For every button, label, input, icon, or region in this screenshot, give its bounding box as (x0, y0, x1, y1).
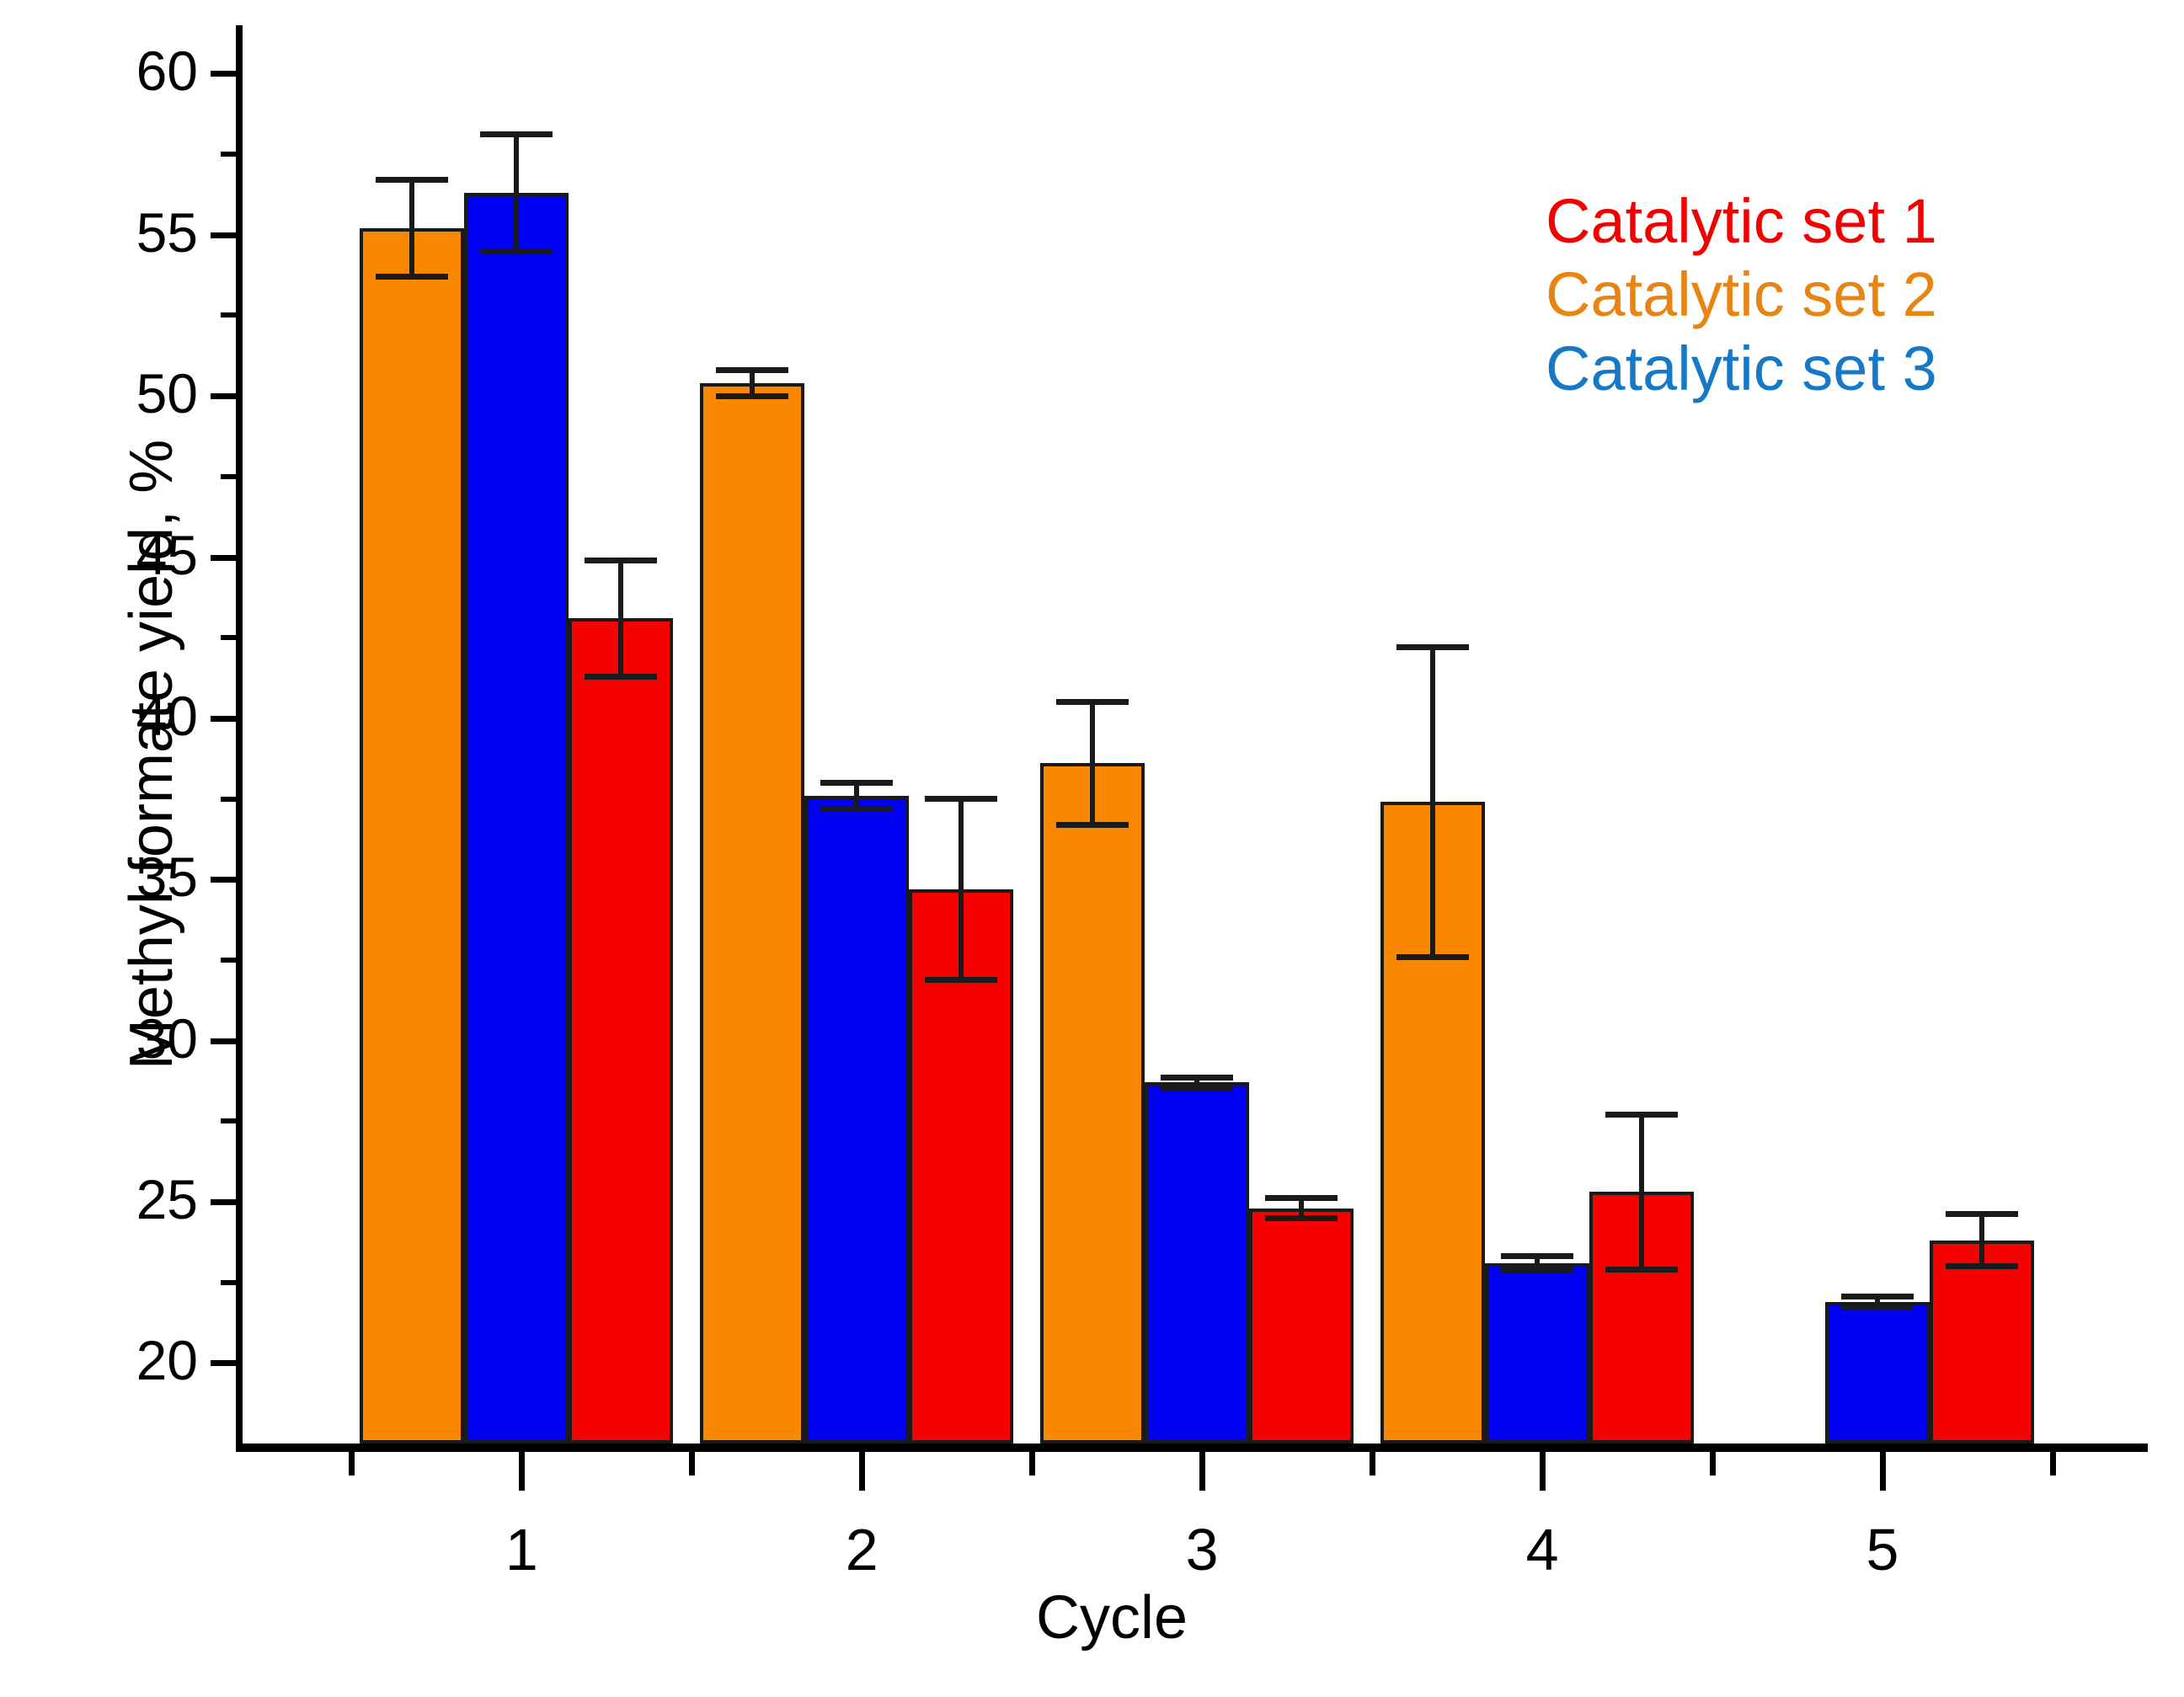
x-tick-major (1199, 1452, 1205, 1491)
y-axis-line (236, 25, 243, 1450)
error-bar-cap-upper (1396, 644, 1469, 650)
error-bar-cap-lower (1161, 1085, 1233, 1091)
legend-entry-catalytic-set-1: Catalytic set 1 (1546, 189, 1937, 253)
error-bar-stem (1430, 644, 1435, 960)
error-bar-cap-upper (480, 131, 553, 137)
y-tick-minor (221, 1280, 236, 1285)
error-bar-stem (514, 131, 519, 253)
legend-entry-catalytic-set-3: Catalytic set 3 (1546, 337, 1937, 400)
y-tick-minor (221, 1118, 236, 1123)
y-tick-label: 60 (29, 43, 198, 99)
y-tick-minor (221, 635, 236, 640)
y-tick-label: 45 (29, 527, 198, 583)
error-bar-cap-upper (1056, 699, 1129, 705)
bar-catalytic-set-2-cycle-3 (1040, 763, 1145, 1444)
y-tick-minor (221, 152, 236, 157)
x-tick-label: 2 (777, 1516, 946, 1583)
bar-catalytic-set-2-cycle-1 (360, 228, 464, 1444)
x-tick-minor (689, 1452, 695, 1476)
x-tick-minor (1029, 1452, 1035, 1476)
error-bar-cap-lower (1946, 1263, 2018, 1269)
x-tick-minor (349, 1452, 355, 1476)
error-bar-stem (409, 177, 414, 280)
y-axis-title: Methyl formate yield, % (117, 291, 186, 1218)
error-bar-stem (618, 558, 623, 680)
error-bar-cap-lower (1841, 1304, 1914, 1310)
y-tick-major (211, 71, 236, 77)
error-bar-cap-upper (585, 558, 657, 563)
y-tick-major (211, 555, 236, 561)
y-tick-major (211, 716, 236, 722)
error-bar-cap-upper (716, 367, 788, 373)
y-tick-major (211, 1199, 236, 1205)
error-bar-cap-upper (1501, 1253, 1573, 1259)
error-bar-cap-upper (925, 796, 997, 802)
y-tick-minor (221, 474, 236, 479)
x-axis-title: Cycle (227, 1583, 1996, 1652)
x-tick-minor (1710, 1452, 1716, 1476)
error-bar-cap-upper (1605, 1112, 1678, 1118)
bar-catalytic-set-3-cycle-4 (1485, 1263, 1589, 1444)
y-tick-minor (221, 312, 236, 318)
error-bar-cap-upper (1161, 1075, 1233, 1081)
y-tick-major (211, 393, 236, 399)
error-bar-cap-upper (1265, 1195, 1338, 1201)
error-bar-stem (959, 796, 964, 983)
x-tick-label: 1 (437, 1516, 606, 1583)
y-tick-label: 50 (29, 366, 198, 421)
bar-catalytic-set-3-cycle-3 (1145, 1082, 1249, 1444)
error-bar-cap-lower (376, 274, 448, 280)
legend-entry-catalytic-set-2: Catalytic set 2 (1546, 263, 1937, 326)
error-bar-cap-lower (1265, 1215, 1338, 1221)
x-tick-major (1540, 1452, 1546, 1491)
y-tick-minor (221, 958, 236, 963)
y-tick-label: 55 (29, 205, 198, 260)
error-bar-cap-lower (716, 393, 788, 399)
bar-catalytic-set-1-cycle-1 (569, 618, 673, 1444)
x-tick-label: 5 (1798, 1516, 1967, 1583)
x-tick-minor (2050, 1452, 2056, 1476)
x-tick-major (859, 1452, 865, 1491)
error-bar-cap-lower (1396, 954, 1469, 960)
error-bar-cap-lower (820, 806, 893, 812)
error-bar-stem (1979, 1211, 1984, 1269)
error-bar-cap-upper (1841, 1294, 1914, 1299)
y-tick-label: 25 (29, 1171, 198, 1227)
x-tick-major (519, 1452, 525, 1491)
bar-catalytic-set-1-cycle-3 (1249, 1209, 1354, 1444)
y-tick-major (211, 877, 236, 883)
error-bar-cap-lower (1501, 1267, 1573, 1273)
y-tick-minor (221, 797, 236, 802)
y-tick-label: 20 (29, 1332, 198, 1388)
bar-catalytic-set-1-cycle-5 (1930, 1241, 2034, 1444)
y-tick-label: 40 (29, 688, 198, 744)
error-bar-cap-lower (480, 248, 553, 254)
y-tick-label: 30 (29, 1011, 198, 1066)
x-tick-label: 4 (1458, 1516, 1626, 1583)
bar-catalytic-set-3-cycle-5 (1825, 1302, 1930, 1444)
legend: Catalytic set 1 Catalytic set 2 Catalyti… (1546, 189, 1937, 410)
error-bar-cap-lower (1056, 822, 1129, 828)
error-bar-stem (1090, 699, 1095, 828)
bar-catalytic-set-2-cycle-2 (700, 383, 804, 1444)
y-tick-major (211, 1038, 236, 1044)
x-tick-minor (1370, 1452, 1375, 1476)
x-tick-label: 3 (1118, 1516, 1286, 1583)
bar-catalytic-set-3-cycle-1 (464, 193, 569, 1444)
chart-figure: Methyl formate yield, % Cycle 2025303540… (0, 0, 2184, 1697)
error-bar-cap-lower (1605, 1267, 1678, 1273)
error-bar-cap-lower (925, 977, 997, 983)
y-tick-label: 35 (29, 849, 198, 905)
error-bar-cap-lower (585, 674, 657, 680)
bar-catalytic-set-3-cycle-2 (804, 796, 909, 1444)
error-bar-stem (1639, 1112, 1644, 1273)
error-bar-cap-upper (820, 780, 893, 786)
y-tick-major (211, 232, 236, 238)
error-bar-cap-upper (1946, 1211, 2018, 1217)
x-axis-line (236, 1444, 2148, 1452)
x-tick-major (1880, 1452, 1886, 1491)
error-bar-cap-upper (376, 177, 448, 183)
y-tick-major (211, 1360, 236, 1366)
